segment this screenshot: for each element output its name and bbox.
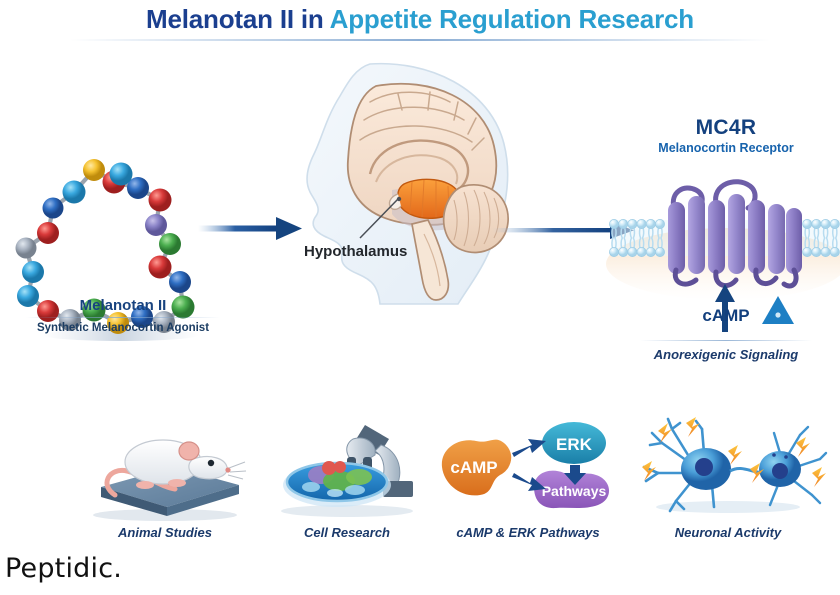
hypothalamus-label: Hypothalamus <box>304 243 407 260</box>
molecule-caption: Melanotan II Synthetic Melanocortin Agon… <box>8 297 238 334</box>
mc4r-receptor-illustration <box>612 112 840 372</box>
anorexigenic-caption: Anorexigenic Signaling <box>612 340 840 362</box>
microscope-petri-dish-icon <box>247 415 447 523</box>
panel-animal-studies: Animal Studies <box>65 415 265 555</box>
panel-animal-caption: Animal Studies <box>65 525 265 540</box>
molecule-subtitle: Synthetic Melanocortin Agonist <box>8 322 238 334</box>
infographic-canvas: Melanotan II in Appetite Regulation Rese… <box>0 0 840 595</box>
camp-label: cAMP <box>612 306 840 326</box>
pathway-node-erk: ERK <box>556 435 593 454</box>
anorexigenic-divider <box>640 340 812 341</box>
camp-erk-pathway-diagram-icon: cAMP ERK Pathways <box>428 415 628 523</box>
page-title-primary: Melanotan II in <box>146 4 330 34</box>
brain-hypothalamus-illustration: Hypothalamus <box>252 58 522 308</box>
pathway-node-camp: cAMP <box>450 458 497 477</box>
page-title: Melanotan II in Appetite Regulation Rese… <box>0 4 840 35</box>
panel-pathways-caption: cAMP & ERK Pathways <box>428 525 628 540</box>
panel-neuronal-activity: Neuronal Activity <box>628 415 828 555</box>
panel-camp-erk-pathways: cAMP ERK Pathways cAMP & ERK Pathways <box>428 415 628 555</box>
molecule-caption-divider <box>26 317 220 318</box>
lab-mouse-on-platform-icon <box>65 415 265 523</box>
anorexigenic-text: Anorexigenic Signaling <box>612 347 840 362</box>
panel-cell-research: Cell Research <box>247 415 447 555</box>
panel-cell-caption: Cell Research <box>247 525 447 540</box>
panel-neuron-caption: Neuronal Activity <box>628 525 828 540</box>
footer-note: Peptidic. <box>5 553 122 584</box>
title-divider <box>70 39 770 41</box>
molecule-name: Melanotan II <box>8 297 238 314</box>
neurons-firing-icon <box>628 415 828 523</box>
page-title-secondary: Appetite Regulation Research <box>330 4 694 34</box>
pathway-node-pathways: Pathways <box>542 483 607 499</box>
